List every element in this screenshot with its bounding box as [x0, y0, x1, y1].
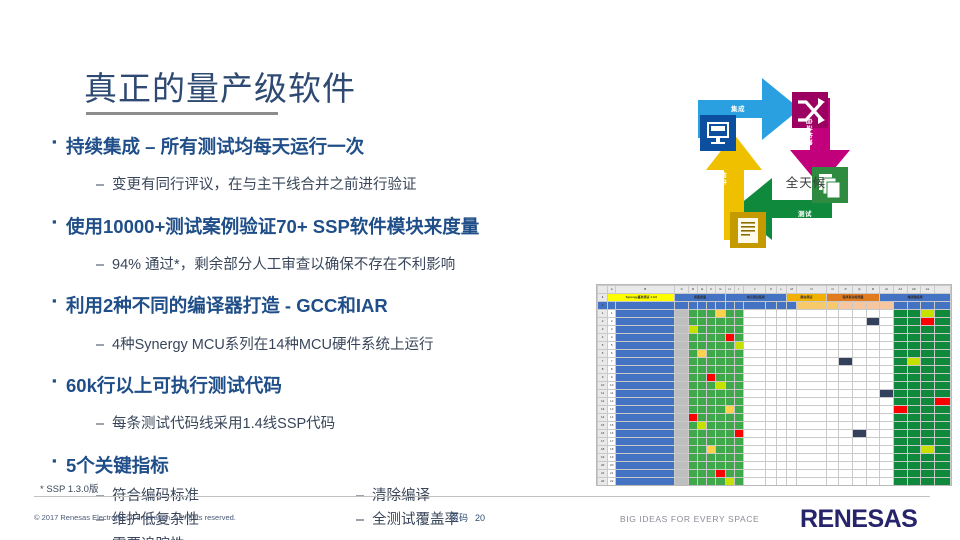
- table-row[interactable]: 1616: [598, 430, 951, 438]
- table-cell: [880, 398, 894, 406]
- table-cell: [839, 310, 853, 318]
- table-row[interactable]: 22: [598, 318, 951, 326]
- table-cell: [716, 478, 725, 486]
- table-cell: [826, 414, 839, 422]
- table-cell: [743, 478, 766, 486]
- table-cell: [866, 438, 880, 446]
- table-row[interactable]: 99: [598, 374, 951, 382]
- table-cell: [934, 342, 950, 350]
- table-cell: [675, 462, 689, 470]
- table-cell: [852, 414, 866, 422]
- table-cell: [698, 406, 707, 414]
- table-cell: [839, 406, 853, 414]
- table-cell: [725, 478, 734, 486]
- table-cell: [675, 470, 689, 478]
- table-cell: [826, 350, 839, 358]
- bullet-level1: 利用2种不同的编译器打造 - GCC和IAR: [52, 295, 612, 316]
- table-cell: [786, 470, 796, 478]
- table-cell: [786, 374, 796, 382]
- table-row[interactable]: 66: [598, 350, 951, 358]
- table-cell: [839, 390, 853, 398]
- table-cell: [725, 358, 734, 366]
- table-cell: [675, 366, 689, 374]
- column-letter-row: A B C D E F G H I J K L M N O P Q: [598, 286, 951, 294]
- table-cell: [707, 310, 716, 318]
- table-cell: [934, 398, 950, 406]
- table-cell: 4: [608, 334, 616, 342]
- col-L: L: [776, 286, 786, 294]
- table-cell: [934, 406, 950, 414]
- subheader-row: 4: [598, 302, 951, 310]
- table-cell: [698, 326, 707, 334]
- table-cell: [689, 414, 698, 422]
- table-cell: 6: [598, 350, 608, 358]
- table-cell: [698, 358, 707, 366]
- footnote: * SSP 1.3.0版: [40, 481, 98, 495]
- cycle-label-report: 报告: [719, 172, 729, 186]
- table-cell: [893, 398, 907, 406]
- table-cell: [826, 430, 839, 438]
- metrics-column-right: 清除编译 全测试覆盖率: [302, 488, 459, 530]
- table-cell: 1: [598, 310, 608, 318]
- table-cell: [880, 414, 894, 422]
- table-row[interactable]: 1818: [598, 446, 951, 454]
- col-A: A: [608, 286, 616, 294]
- table-cell: [907, 318, 921, 326]
- table-cell: [880, 310, 894, 318]
- table-cell: [797, 486, 827, 487]
- table-cell: [698, 422, 707, 430]
- table-cell: [707, 414, 716, 422]
- table-cell: [893, 342, 907, 350]
- table-row[interactable]: 1010: [598, 382, 951, 390]
- table-cell: [866, 358, 880, 366]
- table-cell: [839, 478, 853, 486]
- table-cell: [797, 342, 827, 350]
- col-E: E: [698, 286, 707, 294]
- table-cell: [776, 438, 786, 446]
- table-cell: [766, 422, 776, 430]
- table-cell: [616, 398, 675, 406]
- table-cell: 22: [598, 478, 608, 486]
- table-cell: [797, 382, 827, 390]
- table-cell: 13: [608, 406, 616, 414]
- table-cell: [866, 486, 880, 487]
- table-cell: [776, 486, 786, 487]
- table-cell: [852, 318, 866, 326]
- table-cell: [826, 342, 839, 350]
- table-cell: [852, 462, 866, 470]
- table-cell: 10: [608, 382, 616, 390]
- table-cell: [734, 342, 743, 350]
- table-row[interactable]: 1515: [598, 422, 951, 430]
- table-cell: [893, 374, 907, 382]
- table-cell: [716, 326, 725, 334]
- table-cell: [907, 334, 921, 342]
- ci-cycle-diagram: 集成 自动构建 测试 报告 全天候: [672, 62, 940, 277]
- table-cell: [675, 438, 689, 446]
- table-cell: [689, 454, 698, 462]
- cycle-svg: [672, 62, 940, 277]
- table-cell: [743, 342, 766, 350]
- table-cell: [880, 406, 894, 414]
- table-cell: [776, 390, 786, 398]
- table-cell: [743, 326, 766, 334]
- table-cell: [716, 382, 725, 390]
- table-cell: [716, 318, 725, 326]
- table-cell: [893, 350, 907, 358]
- table-cell: [786, 486, 796, 487]
- table-cell: 12: [608, 398, 616, 406]
- table-cell: [852, 470, 866, 478]
- table-cell: [689, 446, 698, 454]
- table-row[interactable]: 1717: [598, 438, 951, 446]
- table-cell: [880, 334, 894, 342]
- table-cell: 8: [608, 366, 616, 374]
- table-cell: [734, 422, 743, 430]
- table-cell: [934, 382, 950, 390]
- table-row[interactable]: 44: [598, 334, 951, 342]
- table-cell: [689, 430, 698, 438]
- table-cell: 8: [598, 366, 608, 374]
- table-cell: [866, 342, 880, 350]
- table-cell: [839, 366, 853, 374]
- table-cell: [907, 438, 921, 446]
- table-cell: [725, 334, 734, 342]
- table-cell: [698, 342, 707, 350]
- footer-divider: [34, 496, 930, 497]
- table-cell: [797, 462, 827, 470]
- table-cell: [893, 454, 907, 462]
- table-cell: 19: [598, 454, 608, 462]
- table-cell: [689, 422, 698, 430]
- table-cell: [921, 470, 935, 478]
- table-cell: [766, 326, 776, 334]
- table-cell: [866, 462, 880, 470]
- table-cell: [734, 358, 743, 366]
- table-cell: [776, 382, 786, 390]
- table-cell: [776, 478, 786, 486]
- table-cell: [707, 478, 716, 486]
- table-cell: [921, 358, 935, 366]
- table-cell: [766, 462, 776, 470]
- table-cell: [675, 326, 689, 334]
- table-cell: [716, 462, 725, 470]
- table-row[interactable]: 1414: [598, 414, 951, 422]
- table-cell: [766, 478, 776, 486]
- table-cell: [934, 438, 950, 446]
- table-cell: [852, 478, 866, 486]
- table-cell: [766, 470, 776, 478]
- table-cell: [866, 422, 880, 430]
- table-cell: [839, 342, 853, 350]
- table-cell: [698, 438, 707, 446]
- table-cell: 3: [608, 326, 616, 334]
- table-row[interactable]: 88: [598, 366, 951, 374]
- table-cell: [616, 406, 675, 414]
- table-cell: [776, 326, 786, 334]
- table-cell: [907, 326, 921, 334]
- table-cell: [707, 342, 716, 350]
- table-cell: [616, 382, 675, 390]
- table-cell: [826, 374, 839, 382]
- table-cell: [707, 366, 716, 374]
- spreadsheet-thumbnail[interactable]: A B C D E F G H I J K L M N O P Q: [596, 284, 952, 486]
- table-cell: [776, 470, 786, 478]
- table-cell: [743, 310, 766, 318]
- table-cell: [675, 358, 689, 366]
- table-cell: [907, 462, 921, 470]
- table-row[interactable]: 2020: [598, 462, 951, 470]
- table-cell: [716, 390, 725, 398]
- col-B: B: [616, 286, 675, 294]
- table-cell: [866, 326, 880, 334]
- table-cell: [797, 326, 827, 334]
- table-cell: [766, 310, 776, 318]
- table-cell: [776, 454, 786, 462]
- table-cell: [734, 382, 743, 390]
- table-cell: [734, 334, 743, 342]
- table-cell: [921, 390, 935, 398]
- table-cell: 15: [598, 422, 608, 430]
- table-cell: [743, 438, 766, 446]
- col-D: D: [689, 286, 698, 294]
- table-cell: [893, 390, 907, 398]
- table-cell: [743, 366, 766, 374]
- table-cell: [743, 334, 766, 342]
- table-cell: [893, 478, 907, 486]
- table-cell: 13: [598, 406, 608, 414]
- table-cell: [921, 398, 935, 406]
- table-cell: [675, 342, 689, 350]
- table-cell: [743, 390, 766, 398]
- table-cell: [725, 366, 734, 374]
- table-cell: [725, 446, 734, 454]
- table-cell: [826, 486, 839, 487]
- table-cell: [797, 334, 827, 342]
- table-cell: [689, 390, 698, 398]
- table-cell: 21: [598, 470, 608, 478]
- table-cell: [776, 422, 786, 430]
- table-row[interactable]: 2222: [598, 478, 951, 486]
- table-cell: [786, 342, 796, 350]
- table-cell: [698, 334, 707, 342]
- table-cell: [826, 438, 839, 446]
- table-cell: [776, 414, 786, 422]
- table-cell: [616, 446, 675, 454]
- table-cell: [839, 350, 853, 358]
- table-cell: [880, 486, 894, 487]
- table-cell: [880, 438, 894, 446]
- table-cell: [698, 310, 707, 318]
- table-cell: [866, 390, 880, 398]
- table-cell: [852, 422, 866, 430]
- table-cell: [852, 438, 866, 446]
- page-number: 20: [475, 513, 485, 523]
- bullet-level1: 使用10000+测试案例验证70+ SSP软件模块来度量: [52, 216, 612, 237]
- table-cell: [921, 366, 935, 374]
- table-cell: [776, 446, 786, 454]
- table-cell: [725, 470, 734, 478]
- table-cell: [698, 374, 707, 382]
- table-cell: [766, 342, 776, 350]
- table-cell: [766, 366, 776, 374]
- table-cell: [675, 390, 689, 398]
- table-cell: [766, 486, 776, 487]
- table-cell: [866, 430, 880, 438]
- table-cell: [934, 430, 950, 438]
- group-header: 质量度量: [675, 294, 725, 302]
- table-cell: [826, 390, 839, 398]
- table-cell: [866, 350, 880, 358]
- table-row[interactable]: 33: [598, 326, 951, 334]
- col-I: I: [734, 286, 743, 294]
- table-cell: 1: [608, 310, 616, 318]
- table-cell: [797, 350, 827, 358]
- table-cell: [698, 350, 707, 358]
- table-cell: [616, 470, 675, 478]
- table-row[interactable]: 1212: [598, 398, 951, 406]
- table-cell: [725, 430, 734, 438]
- table-cell: [907, 310, 921, 318]
- table-cell: [786, 422, 796, 430]
- table-cell: [725, 390, 734, 398]
- col-G: G: [716, 286, 725, 294]
- table-cell: [880, 374, 894, 382]
- table-cell: [934, 358, 950, 366]
- table-cell: [689, 406, 698, 414]
- table-cell: [707, 398, 716, 406]
- table-cell: [797, 414, 827, 422]
- table-cell: [866, 470, 880, 478]
- table-row[interactable]: 1919: [598, 454, 951, 462]
- table-cell: [907, 358, 921, 366]
- table-cell: [776, 398, 786, 406]
- table-cell: [866, 446, 880, 454]
- table-cell: 3: [598, 326, 608, 334]
- table-row[interactable]: 2323: [598, 486, 951, 487]
- table-cell: [689, 310, 698, 318]
- table-cell: [743, 350, 766, 358]
- table-row[interactable]: 55: [598, 342, 951, 350]
- table-cell: [734, 438, 743, 446]
- table-cell: [766, 382, 776, 390]
- table-cell: [826, 326, 839, 334]
- table-cell: [797, 454, 827, 462]
- table-cell: 15: [608, 422, 616, 430]
- table-cell: [839, 382, 853, 390]
- table-cell: [707, 326, 716, 334]
- table-cell: [734, 374, 743, 382]
- table-cell: [776, 374, 786, 382]
- table-cell: [616, 342, 675, 350]
- table-cell: [934, 318, 950, 326]
- table-cell: [766, 406, 776, 414]
- table-row[interactable]: 1313: [598, 406, 951, 414]
- table-cell: [866, 454, 880, 462]
- table-cell: [839, 326, 853, 334]
- table-cell: [880, 478, 894, 486]
- table-cell: [880, 430, 894, 438]
- table-cell: [880, 454, 894, 462]
- table-cell: [852, 374, 866, 382]
- table-cell: [766, 358, 776, 366]
- table-cell: [786, 390, 796, 398]
- table-cell: [852, 358, 866, 366]
- table-cell: [725, 422, 734, 430]
- table-cell: [707, 462, 716, 470]
- table-cell: [907, 390, 921, 398]
- table-cell: [907, 430, 921, 438]
- table-cell: [734, 478, 743, 486]
- table-row[interactable]: 77: [598, 358, 951, 366]
- table-cell: [880, 366, 894, 374]
- col-F: F: [707, 286, 716, 294]
- title-underline: [86, 112, 278, 115]
- table-row[interactable]: 2121: [598, 470, 951, 478]
- table-cell: [880, 422, 894, 430]
- table-cell: [826, 366, 839, 374]
- brand-tagline: BIG IDEAS FOR EVERY SPACE: [620, 514, 759, 524]
- table-cell: 11: [598, 390, 608, 398]
- table-cell: [675, 414, 689, 422]
- table-cell: [797, 438, 827, 446]
- table-cell: [934, 310, 950, 318]
- document-icon: [730, 212, 766, 248]
- table-cell: [907, 478, 921, 486]
- table-cell: [698, 454, 707, 462]
- table-cell: [934, 422, 950, 430]
- table-cell: [616, 350, 675, 358]
- table-cell: [716, 454, 725, 462]
- table-cell: [826, 446, 839, 454]
- table-cell: [880, 462, 894, 470]
- table-cell: [826, 310, 839, 318]
- table-cell: [675, 446, 689, 454]
- table-cell: [826, 398, 839, 406]
- table-row[interactable]: 1111: [598, 390, 951, 398]
- table-cell: [880, 390, 894, 398]
- table-cell: [725, 350, 734, 358]
- table-cell: [689, 366, 698, 374]
- table-cell: [707, 446, 716, 454]
- table-cell: [766, 414, 776, 422]
- table-cell: [907, 398, 921, 406]
- table-cell: [839, 438, 853, 446]
- table-cell: [893, 422, 907, 430]
- table-cell: [716, 438, 725, 446]
- table-cell: [852, 390, 866, 398]
- table-cell: [698, 390, 707, 398]
- table-cell: [934, 462, 950, 470]
- table-cell: 2: [608, 318, 616, 326]
- table-cell: [743, 462, 766, 470]
- table-cell: [839, 374, 853, 382]
- table-cell: [907, 350, 921, 358]
- table-cell: 16: [608, 430, 616, 438]
- table-cell: [716, 486, 725, 487]
- table-cell: [934, 454, 950, 462]
- table-cell: [907, 486, 921, 487]
- table-cell: [839, 486, 853, 487]
- table-cell: [725, 406, 734, 414]
- table-cell: [907, 454, 921, 462]
- table-row[interactable]: 11: [598, 310, 951, 318]
- table-cell: [698, 462, 707, 470]
- table-cell: [734, 414, 743, 422]
- table-cell: [675, 350, 689, 358]
- table-cell: 12: [598, 398, 608, 406]
